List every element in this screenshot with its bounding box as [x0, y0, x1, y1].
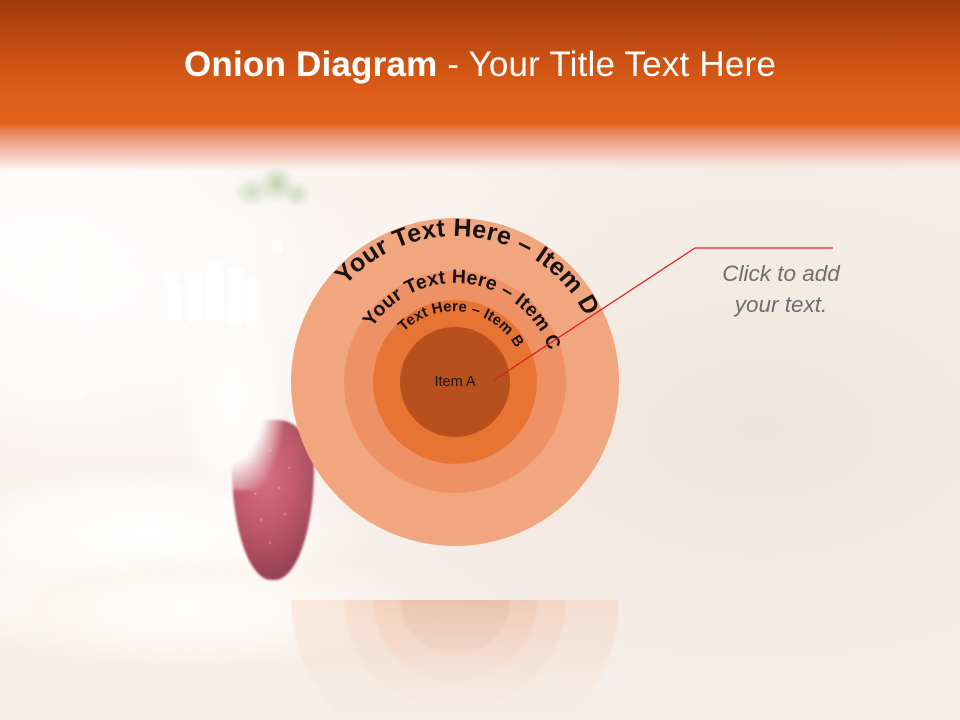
callout-leader-line [0, 0, 960, 720]
callout-line-1: Click to add [686, 258, 876, 289]
callout-line-2: your text. [686, 289, 876, 320]
callout-text[interactable]: Click to add your text. [686, 258, 876, 320]
slide-canvas: Onion Diagram - Your Title Text Here You… [0, 0, 960, 720]
